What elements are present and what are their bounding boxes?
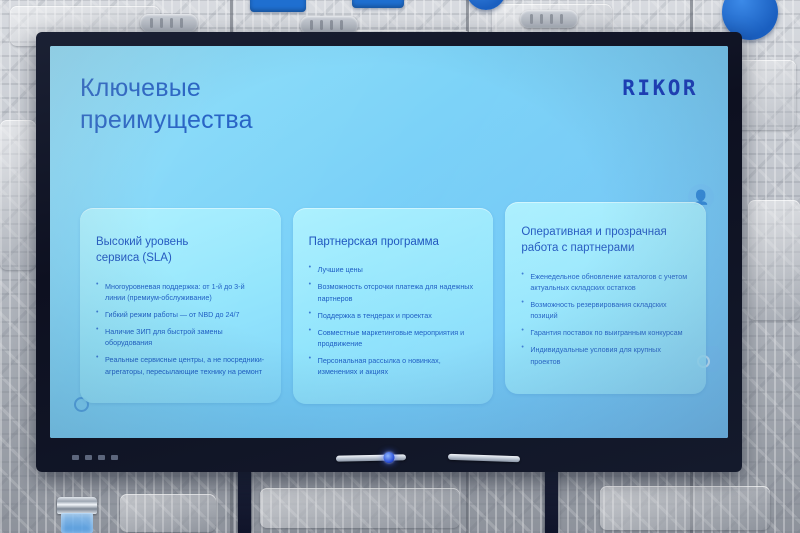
card-title: Оперативная и прозрачная работа с партне… bbox=[521, 224, 690, 257]
list-item: Еженедельное обновление каталогов с учет… bbox=[521, 271, 690, 293]
list-item: Персональная рассылка о новинках, измене… bbox=[309, 355, 478, 377]
water-bottle bbox=[57, 497, 97, 533]
advantage-cards-row: Высокий уровень сервиса (SLA) Многоуровн… bbox=[80, 208, 706, 404]
wall-plate bbox=[260, 488, 460, 528]
wall-vent-slot bbox=[140, 14, 198, 32]
card-bullet-list: Многоуровневая поддержка: от 1-й до 3-й … bbox=[96, 281, 265, 377]
list-item: Гарантия поставок по выигранным конкурса… bbox=[521, 327, 690, 338]
advantage-card-partner-program[interactable]: Партнерская программа Лучшие цены Возмож… bbox=[293, 208, 494, 404]
bezel-button-input[interactable] bbox=[85, 455, 92, 460]
list-item: Совместные маркетинговые мероприятия и п… bbox=[309, 327, 478, 349]
wall-plate bbox=[748, 200, 800, 320]
card-bullet-list: Еженедельное обновление каталогов с учет… bbox=[521, 271, 690, 367]
power-button[interactable] bbox=[384, 452, 395, 463]
card-title: Партнерская программа bbox=[309, 234, 478, 250]
card-bullet-list: Лучшие цены Возможность отсрочки платежа… bbox=[309, 264, 478, 377]
display-stand-leg-left bbox=[238, 470, 251, 533]
list-item: Многоуровневая поддержка: от 1-й до 3-й … bbox=[96, 281, 265, 303]
bottle-cap bbox=[57, 497, 97, 514]
list-item: Возможность резервирования складских поз… bbox=[521, 299, 690, 321]
interactive-display[interactable]: 👤 Ключевые преимущества RIKOR Высокий ур… bbox=[36, 32, 742, 472]
list-item: Возможность отсрочки платежа для надежны… bbox=[309, 281, 478, 303]
list-item: Поддержка в тендерах и проектах bbox=[309, 310, 478, 321]
bezel-button-volume-up[interactable] bbox=[111, 455, 118, 460]
page-title: Ключевые преимущества bbox=[80, 72, 253, 136]
card-title: Высокий уровень сервиса (SLA) bbox=[96, 234, 265, 267]
list-item: Лучшие цены bbox=[309, 264, 478, 275]
display-screen[interactable]: 👤 Ключевые преимущества RIKOR Высокий ур… bbox=[50, 46, 728, 438]
rikor-logo: RIKOR bbox=[622, 72, 698, 100]
stylus-pen-left[interactable] bbox=[336, 454, 406, 461]
wall-plate bbox=[120, 494, 216, 532]
wall-vent-slot bbox=[520, 10, 578, 28]
list-item: Гибкий режим работы — от NBD до 24/7 bbox=[96, 309, 265, 320]
list-item: Индивидуальные условия для крупных проек… bbox=[521, 344, 690, 366]
wall-blue-accent bbox=[352, 0, 404, 8]
bezel-control-buttons[interactable] bbox=[72, 455, 118, 460]
wall-blue-accent bbox=[250, 0, 306, 12]
wall-plate bbox=[0, 120, 36, 270]
presentation-slide: 👤 Ключевые преимущества RIKOR Высокий ур… bbox=[50, 46, 728, 438]
wall-plate bbox=[600, 486, 770, 530]
stylus-pen-right[interactable] bbox=[448, 454, 520, 463]
advantage-card-transparent-work[interactable]: Оперативная и прозрачная работа с партне… bbox=[505, 202, 706, 394]
list-item: Реальные сервисные центры, а не посредни… bbox=[96, 354, 265, 376]
presentation-room-scene: 👤 Ключевые преимущества RIKOR Высокий ур… bbox=[0, 0, 800, 533]
list-item: Наличие ЗИП для быстрой замены оборудова… bbox=[96, 326, 265, 348]
bezel-button-volume-down[interactable] bbox=[98, 455, 105, 460]
bezel-button-menu[interactable] bbox=[72, 455, 79, 460]
slide-header: Ключевые преимущества RIKOR bbox=[80, 72, 698, 136]
display-stand-leg-right bbox=[545, 470, 558, 533]
advantage-card-sla[interactable]: Высокий уровень сервиса (SLA) Многоуровн… bbox=[80, 208, 281, 403]
bottle-body bbox=[61, 513, 93, 533]
